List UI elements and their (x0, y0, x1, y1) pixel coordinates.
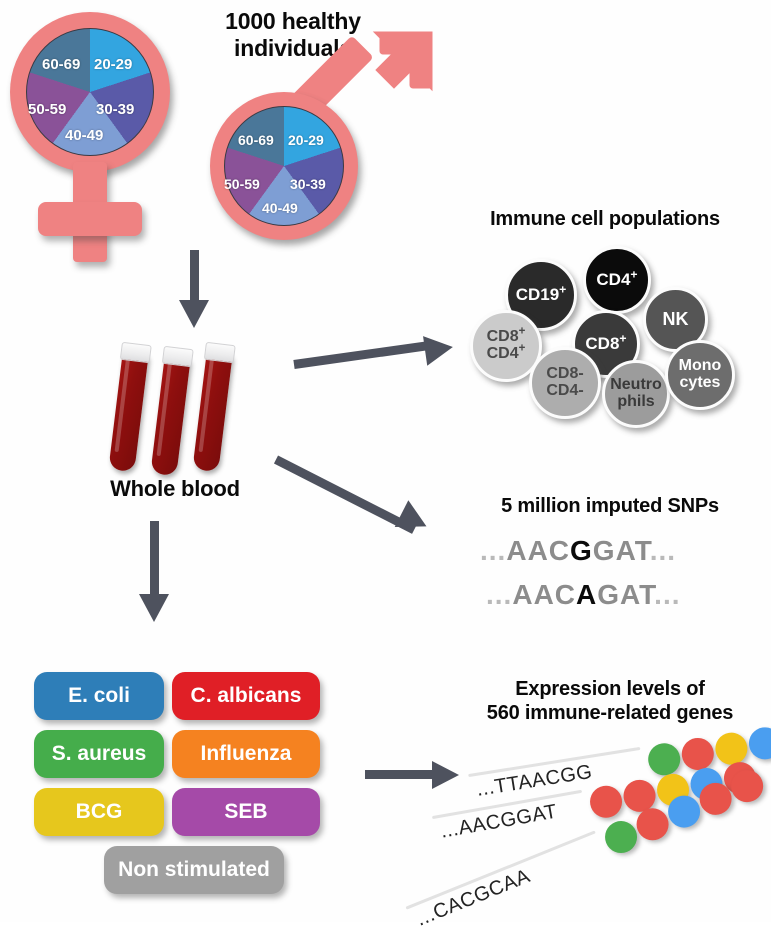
stimulus-e-coli[interactable]: E. coli (34, 672, 164, 720)
superscript: + (519, 343, 526, 355)
immune-cell-label: cytes (680, 375, 721, 392)
stimulus-label: SEB (224, 800, 267, 824)
stimulus-label: Influenza (200, 742, 291, 766)
stimulus-label: C. albicans (191, 684, 302, 708)
stimulus-label: S. aureus (52, 742, 147, 766)
snp-prefix: ... (486, 579, 512, 610)
snp-prefix: ... (480, 535, 506, 566)
immune-cell-label: CD8- (546, 366, 583, 383)
stimulus-non-stimulated[interactable]: Non stimulated (104, 846, 284, 894)
immune-cell-label: CD4+ (487, 346, 526, 363)
snp-left-bases: AAC (506, 535, 570, 566)
snp-sequence-panel: ...AACGGAT... ...AACAGAT... (480, 535, 760, 625)
snp-variant-base: A (576, 579, 597, 610)
stimulus-influenza[interactable]: Influenza (172, 730, 320, 778)
immune-cell-label: Mono (679, 358, 722, 375)
superscript: + (630, 267, 637, 281)
immune-cell-label: phils (617, 394, 654, 411)
immune-cell-cd8cd4neg: CD8-CD4- (529, 347, 601, 419)
superscript: + (619, 331, 626, 345)
immune-cell-monocytes: Monocytes (665, 340, 735, 410)
stimulus-label: Non stimulated (118, 858, 270, 882)
stimulus-bcg[interactable]: BCG (34, 788, 164, 836)
snp-variant-base: G (570, 535, 593, 566)
snp-right-bases: GAT (597, 579, 654, 610)
immune-cell-label: Neutro (610, 377, 662, 394)
snp-sequence-row: ...AACGGAT... (480, 535, 676, 567)
immune-cell-label: CD19+ (516, 286, 567, 304)
stimulus-c-albicans[interactable]: C. albicans (172, 672, 320, 720)
immune-cell-label: CD4+ (596, 271, 637, 289)
snp-suffix: ... (654, 579, 680, 610)
stimulus-label: E. coli (68, 684, 130, 708)
superscript: + (559, 282, 566, 296)
immune-cell-label: NK (663, 310, 689, 329)
figure-canvas: 1000 healthy individuals 20-29 30-39 40-… (0, 0, 771, 922)
stimulus-label: BCG (76, 800, 123, 824)
expression-title-line-1: Expression levels of (450, 678, 770, 702)
stimulus-seb[interactable]: SEB (172, 788, 320, 836)
expression-title: Expression levels of 560 immune-related … (450, 678, 770, 725)
gene-strands-panel: ...TTAACGG...AACGGAT...CACGCAA (430, 730, 771, 910)
expression-title-line-2: 560 immune-related genes (450, 702, 770, 726)
immune-cell-cd4: CD4+ (583, 246, 651, 314)
stimulus-s-aureus[interactable]: S. aureus (34, 730, 164, 778)
stimuli-panel: E. coliC. albicansS. aureusInfluenzaBCGS… (0, 0, 400, 922)
snp-right-bases: GAT (593, 535, 650, 566)
snp-suffix: ... (650, 535, 676, 566)
immune-cell-neutrophils: Neutrophils (602, 360, 670, 428)
snp-title: 5 million imputed SNPs (450, 495, 770, 519)
superscript: + (519, 326, 526, 338)
snp-sequence-row: ...AACAGAT... (486, 579, 681, 611)
immune-cell-label: CD8+ (585, 335, 626, 353)
snp-left-bases: AAC (512, 579, 576, 610)
immune-cell-label: CD4- (546, 383, 583, 400)
